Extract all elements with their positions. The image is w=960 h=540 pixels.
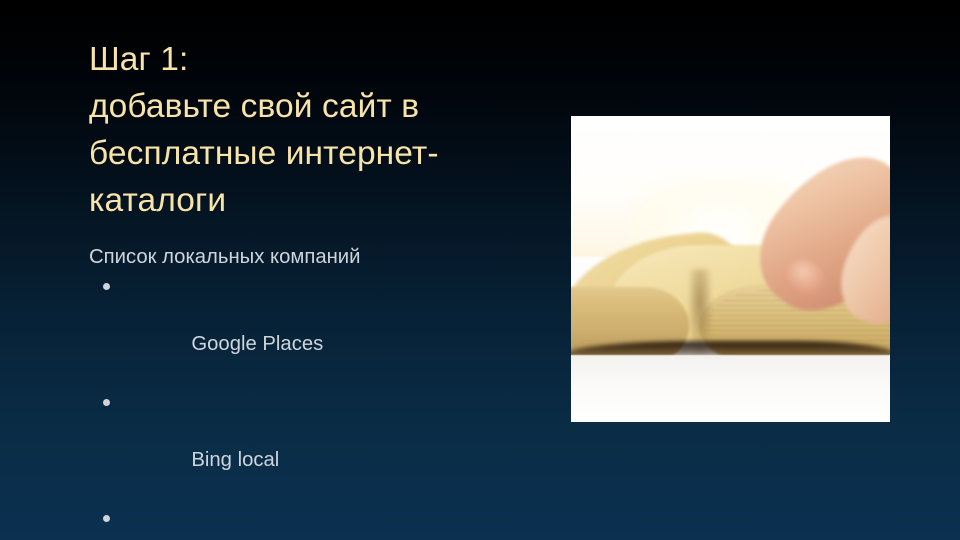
slide-body: Список локальных компаний Google Places …: [89, 243, 529, 540]
list-item: Google Places: [89, 272, 529, 388]
list-item: Bing local: [89, 388, 529, 504]
list-item-label: Google Places: [191, 333, 323, 355]
bullet-dot-icon: [103, 515, 110, 522]
title-line-4: каталоги: [89, 177, 519, 224]
bullet-dot-icon: [103, 399, 110, 406]
title-line-3: бесплатные интернет-: [89, 130, 519, 177]
section-heading: Список локальных компаний: [89, 243, 529, 272]
slide-canvas: Шаг 1: добавьте свой сайт в бесплатные и…: [0, 0, 960, 540]
list-item-label: Bing local: [191, 449, 279, 471]
slide-image-frame: [571, 116, 890, 422]
list-item: Yahoo Search: [89, 504, 529, 540]
bullet-list-local-listings: Google Places Bing local Yahoo Search: [89, 272, 529, 540]
page-title: Шаг 1: добавьте свой сайт в бесплатные и…: [89, 36, 519, 224]
bullet-dot-icon: [103, 283, 110, 290]
section-local-listings: Список локальных компаний Google Places …: [89, 243, 529, 540]
table-surface: [571, 355, 890, 422]
title-line-1: Шаг 1:: [89, 36, 519, 83]
title-line-2: добавьте свой сайт в: [89, 83, 519, 130]
book-finger-photo: [571, 116, 890, 422]
